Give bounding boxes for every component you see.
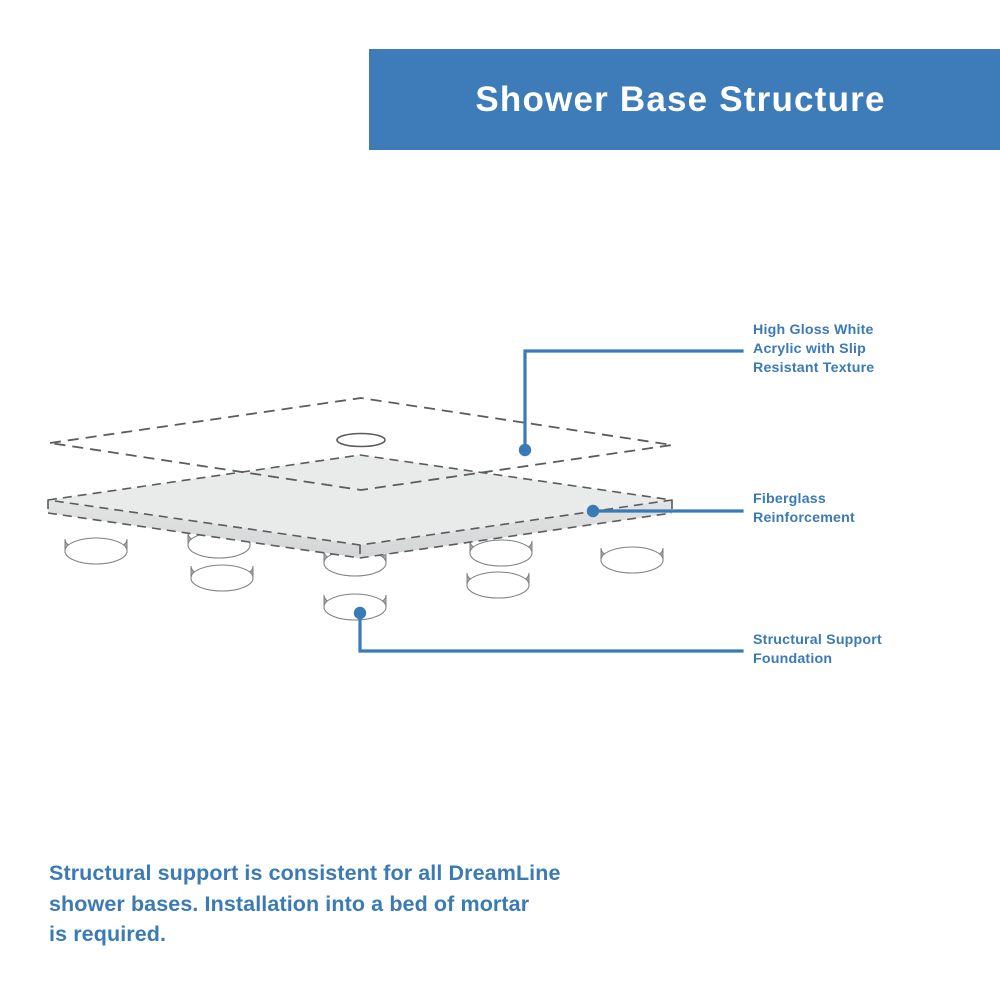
acrylic-top-panel [50,398,672,490]
leader-dot [519,444,531,456]
leader-line-support [354,607,742,651]
support-ring [65,538,127,564]
support-ring [191,565,253,591]
callout-label-fiberglass: Fiberglass Reinforcement [753,490,953,528]
callout-label-support: Structural Support Foundation [753,631,958,669]
page-title: Shower Base Structure [475,80,885,120]
fiberglass-slab [48,455,672,558]
support-ring [188,532,250,558]
leader-dot [354,607,366,619]
leader-dot [587,505,599,517]
drain-hole-icon [337,434,385,447]
leader-lines-group [354,351,742,651]
footer-caption: Structural support is consistent for all… [49,858,709,950]
support-ring [324,550,386,576]
leader-line-fiberglass [587,505,742,517]
leader-line-acrylic [519,351,742,456]
title-banner: Shower Base Structure [369,49,1000,150]
support-ring [601,547,663,573]
diagram-page: Shower Base Structure [0,0,1000,1000]
support-rings-group [65,532,663,620]
support-ring [470,540,532,566]
support-ring-labelled [324,594,386,620]
support-ring [467,572,529,598]
callout-label-acrylic: High Gloss White Acrylic with Slip Resis… [753,321,953,378]
